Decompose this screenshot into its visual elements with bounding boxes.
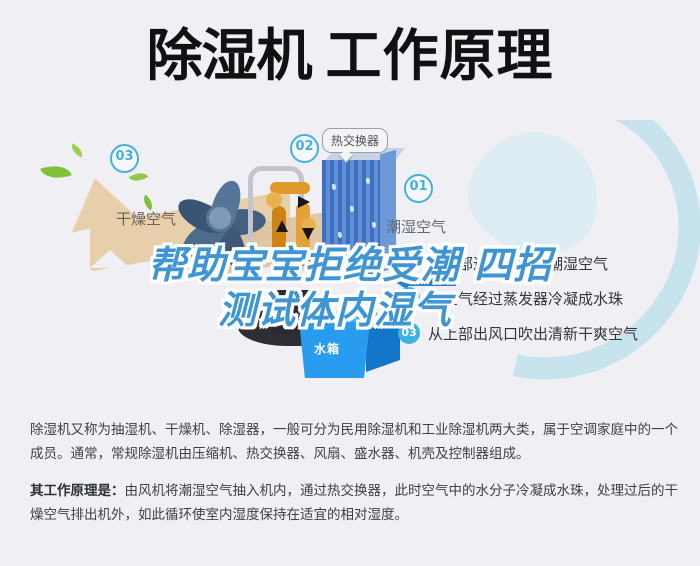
- evaporator-side-graphic: [380, 150, 396, 273]
- page-title: 除湿机工作原理: [0, 28, 700, 87]
- list-item: 02 湿空气经过蒸发器冷凝成水珠: [398, 287, 698, 309]
- body-paragraph-2-rest: 由风机将潮湿空气抽入机内，通过热交换器，此时空气中的水分子冷凝成水珠，处理过后的…: [30, 483, 678, 523]
- step-text: 从上部出风口吹出清新干爽空气: [428, 323, 638, 344]
- water-tank-label: 水箱: [314, 340, 340, 357]
- step-list: 01 从下部进风口吸入潮湿空气 02 湿空气经过蒸发器冷凝成水珠 03 从上部出…: [398, 252, 698, 357]
- water-tank-graphic: 水箱: [296, 306, 404, 382]
- water-tank-side: [366, 312, 400, 372]
- copper-coil-segment: [272, 206, 286, 260]
- leaf-icon: [69, 143, 85, 157]
- step-text: 从下部进风口吸入潮湿空气: [428, 253, 608, 274]
- list-item: 03 从上部出风口吹出清新干爽空气: [398, 322, 698, 344]
- water-droplet-icon: [350, 206, 354, 212]
- water-droplet-icon: [338, 232, 342, 238]
- water-droplet-icon: [372, 222, 376, 228]
- dry-air-notch-graphic: [90, 250, 130, 268]
- heat-exchanger-callout-label: 热交换器: [331, 134, 379, 148]
- humid-air-label: 潮湿空气: [386, 216, 446, 237]
- water-droplet-icon: [366, 178, 370, 184]
- body-copy: 除湿机又称为抽湿机、干燥机、除湿器，一般可分为民用除湿机和工业除湿机两大类，属于…: [30, 418, 678, 540]
- copper-coil-segment: [270, 254, 312, 266]
- water-droplet-icon: [332, 184, 336, 190]
- diagram-badge-02: 02: [290, 134, 319, 163]
- diagram-badge-01: 01: [404, 174, 433, 203]
- flow-arrow-up-icon: [302, 228, 314, 240]
- heat-exchanger-callout: 热交换器: [322, 128, 388, 153]
- water-droplet-icon: [360, 250, 364, 256]
- list-item: 01 从下部进风口吸入潮湿空气: [398, 252, 698, 274]
- step-number-badge: 02: [398, 287, 420, 309]
- body-paragraph-2: 其工作原理是：由风机将潮湿空气抽入机内，通过热交换器，此时空气中的水分子冷凝成水…: [30, 479, 678, 527]
- step-text: 湿空气经过蒸发器冷凝成水珠: [428, 288, 623, 309]
- step-number-badge: 03: [398, 322, 420, 344]
- flow-arrow-right-icon: [298, 196, 310, 208]
- flow-arrow-down-icon: [276, 220, 288, 232]
- copper-coil-joint: [266, 192, 282, 208]
- evaporator-fins-graphic: [322, 160, 380, 278]
- dry-air-label: 干燥空气: [116, 208, 176, 229]
- step-number-badge: 01: [398, 252, 420, 274]
- page-title-main: 除湿机: [147, 24, 312, 89]
- body-paragraph-1: 除湿机又称为抽湿机、干燥机、除湿器，一般可分为民用除湿机和工业除湿机两大类，属于…: [30, 418, 678, 466]
- body-paragraph-2-lead: 其工作原理是：: [30, 483, 125, 499]
- page-root: 除湿机工作原理: [0, 0, 700, 566]
- page-title-sub: 工作原理: [326, 24, 554, 89]
- fan-hub: [206, 204, 234, 232]
- diagram-badge-03: 03: [110, 144, 139, 173]
